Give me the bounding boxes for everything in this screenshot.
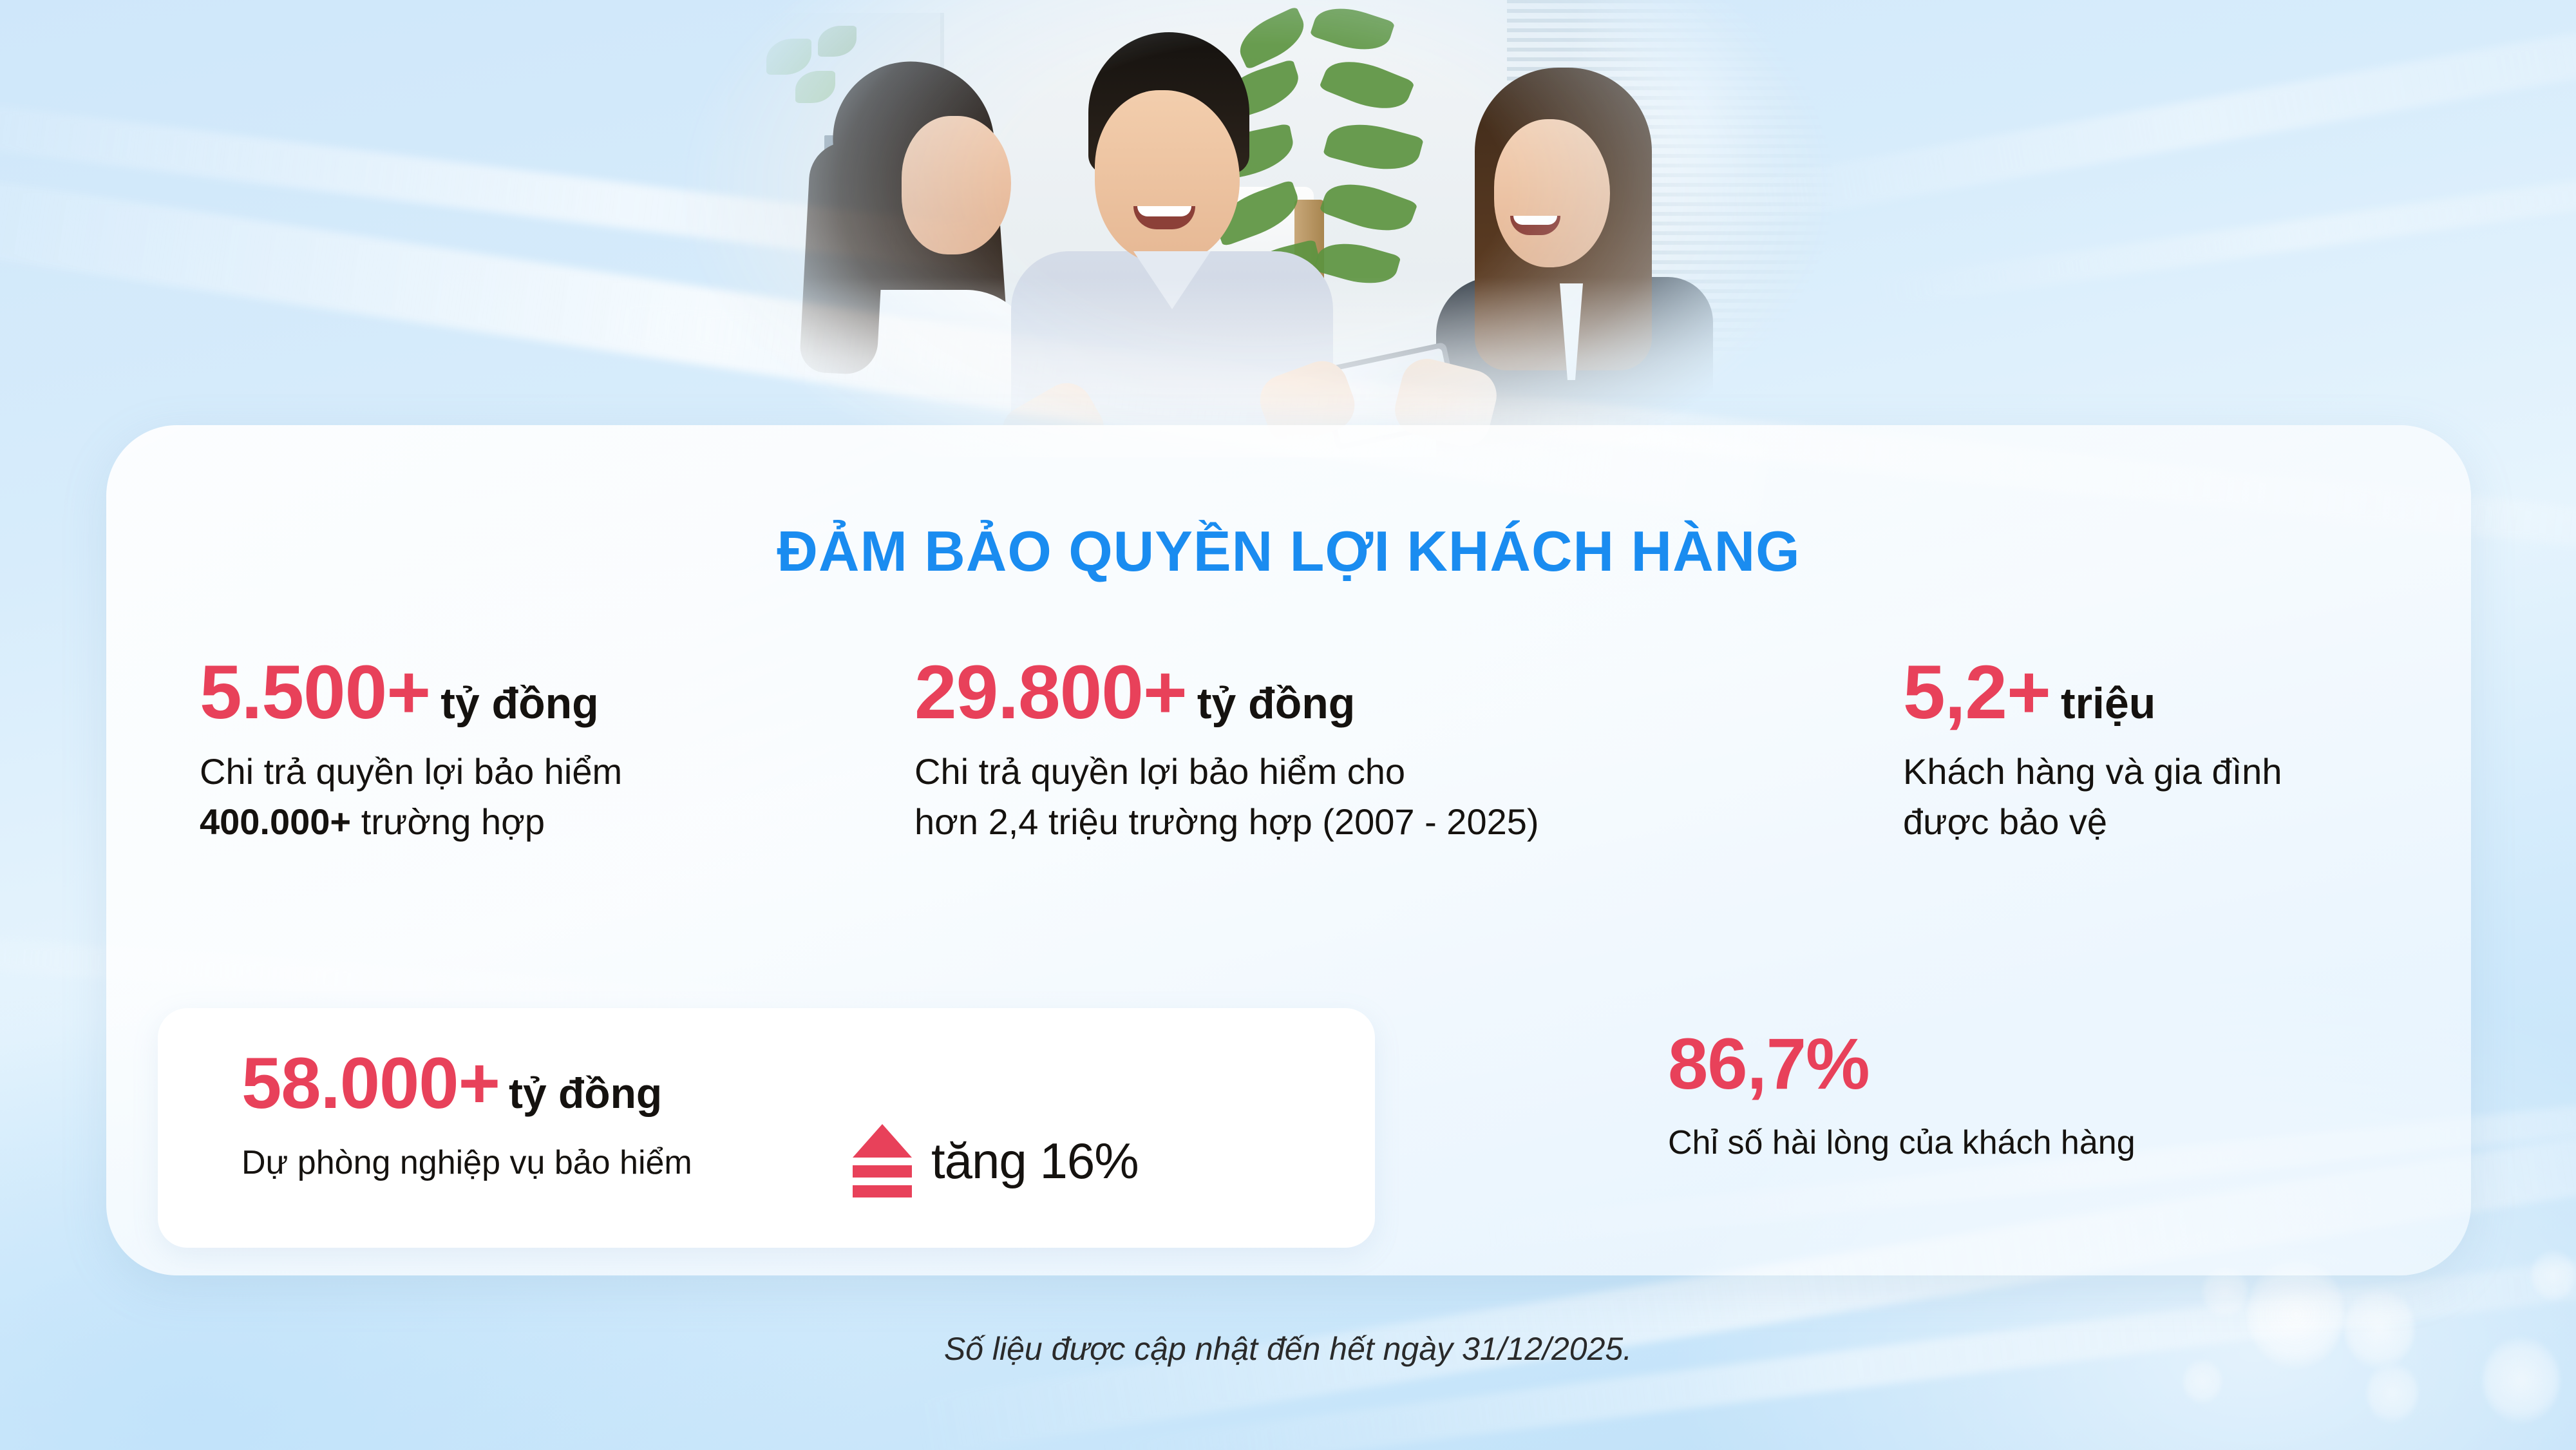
stat-block-satisfaction: 86,7% Chỉ số hài lòng của khách hàng: [1668, 1027, 2136, 1167]
page-title: ĐẢM BẢO QUYỀN LỢI KHÁCH HÀNG: [106, 519, 2471, 584]
reserve-description: Dự phòng nghiệp vụ bảo hiểm: [241, 1143, 692, 1182]
stat-description-line: Khách hàng và gia đình: [1903, 747, 2483, 796]
stat-description-line: 400.000+ trường hợp: [200, 797, 921, 846]
stat-block-total-claims: 29.800+tỷ đồng Chi trả quyền lợi bảo hiể…: [914, 654, 1816, 846]
stat-description: Chi trả quyền lợi bảo hiểm cho hơn 2,4 t…: [914, 747, 1816, 846]
trend-up-icon: [850, 1123, 914, 1199]
infographic-canvas: ĐẢM BẢO QUYỀN LỢI KHÁCH HÀNG 5.500+tỷ đồ…: [0, 0, 2576, 1450]
stat-description-line: hơn 2,4 triệu trường hợp (2007 - 2025): [914, 797, 1816, 846]
stat-value: 29.800+tỷ đồng: [914, 654, 1816, 731]
stat-value: 5,2+triệu: [1903, 654, 2483, 731]
stat-value: 5.500+tỷ đồng: [200, 654, 921, 731]
stat-number: 5.500+: [200, 650, 430, 735]
stat-inline-text: trường hợp: [351, 801, 545, 842]
footnote: Số liệu được cập nhật đến hết ngày 31/12…: [0, 1330, 2576, 1368]
growth-badge: tăng 16%: [850, 1123, 1139, 1199]
stat-description-line: Chi trả quyền lợi bảo hiểm cho: [914, 747, 1816, 796]
stat-description-line: được bảo vệ: [1903, 797, 2483, 846]
stat-unit: tỷ đồng: [1197, 679, 1356, 728]
reserve-unit: tỷ đồng: [509, 1069, 662, 1117]
stat-description: Chi trả quyền lợi bảo hiểm 400.000+ trườ…: [200, 747, 921, 846]
stat-block-claims-paid: 5.500+tỷ đồng Chi trả quyền lợi bảo hiểm…: [200, 654, 921, 846]
satisfaction-value: 86,7%: [1668, 1027, 2136, 1101]
stat-unit: tỷ đồng: [440, 679, 599, 728]
reserve-card: 58.000+tỷ đồng Dự phòng nghiệp vụ bảo hi…: [158, 1008, 1375, 1248]
reserve-value: 58.000+tỷ đồng: [241, 1042, 662, 1125]
stat-description-line: Chi trả quyền lợi bảo hiểm: [200, 747, 921, 796]
stat-number: 5,2+: [1903, 650, 2050, 735]
bokeh-decoration: [2531, 1250, 2576, 1301]
stat-description: Khách hàng và gia đình được bảo vệ: [1903, 747, 2483, 846]
stat-number: 29.800+: [914, 650, 1187, 735]
light-streak-decoration: [1870, 146, 2576, 309]
stat-inline-number: 400.000+: [200, 801, 351, 842]
bokeh-decoration: [2367, 1362, 2418, 1424]
satisfaction-description: Chỉ số hài lòng của khách hàng: [1668, 1120, 2136, 1167]
stats-card: ĐẢM BẢO QUYỀN LỢI KHÁCH HÀNG 5.500+tỷ đồ…: [106, 425, 2471, 1275]
growth-badge-text: tăng 16%: [931, 1132, 1139, 1190]
stat-unit: triệu: [2061, 679, 2155, 728]
stat-block-customers-protected: 5,2+triệu Khách hàng và gia đình được bả…: [1903, 654, 2483, 846]
stats-row: 5.500+tỷ đồng Chi trả quyền lợi bảo hiểm…: [106, 654, 2471, 892]
hero-photo-scene: [644, 0, 1868, 457]
hero-photo: [644, 0, 1868, 457]
reserve-number: 58.000+: [241, 1043, 500, 1123]
